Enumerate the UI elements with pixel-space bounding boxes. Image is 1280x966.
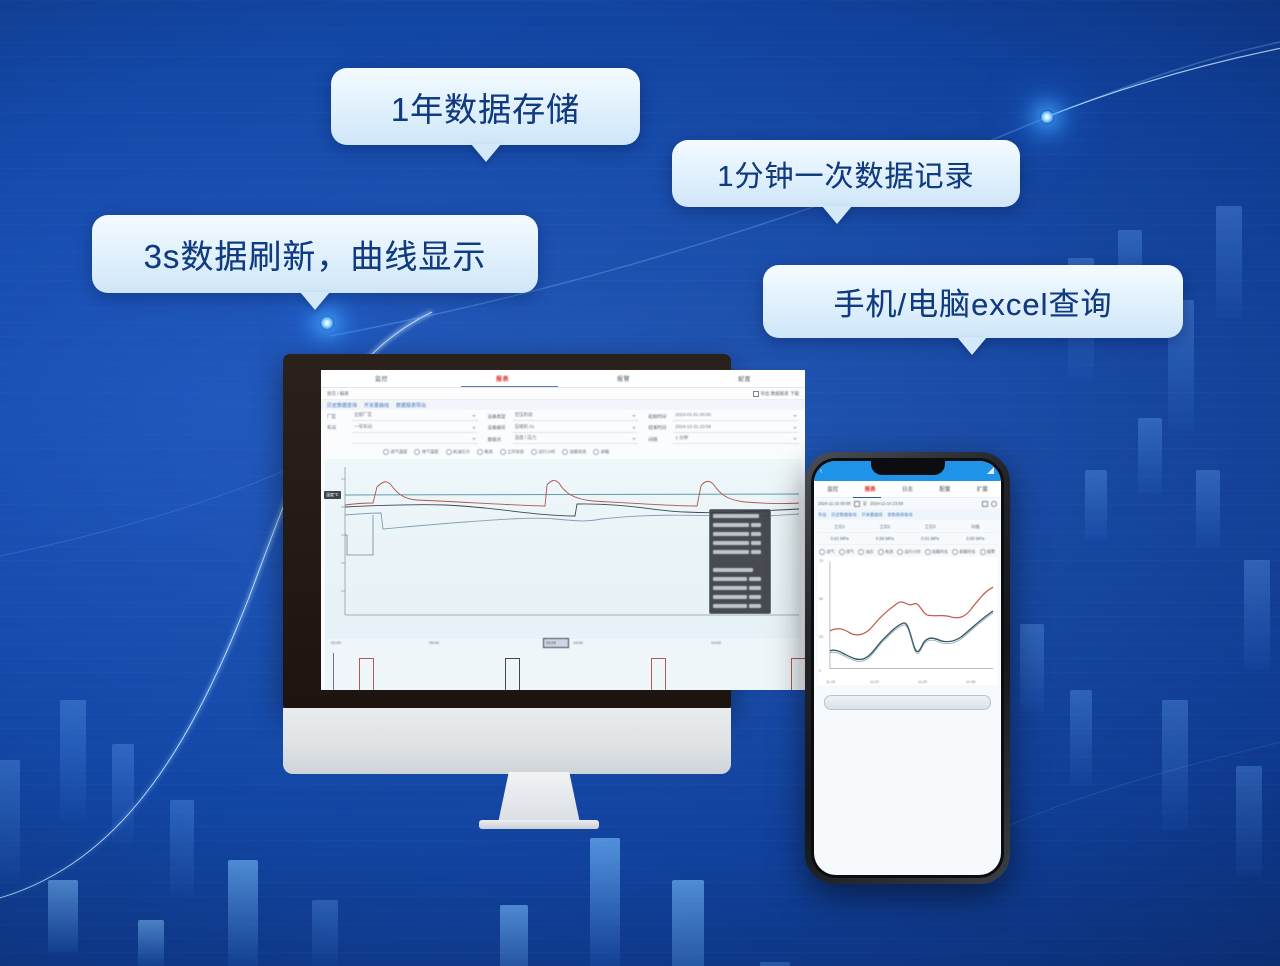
legend-dot-icon (858, 549, 864, 555)
legend-dot-icon (925, 549, 931, 555)
digital-pulse (651, 658, 666, 691)
phone-date-end[interactable]: 2024-12-14 23:59 (870, 501, 903, 506)
chart-tooltip: 2024-06-12 10:24 进气温度 38.6 排气温度 82.1 机油压… (709, 509, 771, 614)
legend-label: 进气 (827, 549, 835, 555)
form-select[interactable] (352, 435, 478, 444)
tooltip-title-2 (713, 567, 767, 574)
phone-data-table: 工位1 工位2 工位3 均值 0.62 MPa 0.58 MPa 0.61 MP… (814, 520, 1001, 546)
monitor-breadcrumb-2[interactable]: 数据报表导出 (396, 402, 426, 409)
legend-item: 卸载 (593, 449, 609, 455)
legend-dot-icon (477, 449, 483, 455)
table-row: 0.62 MPa 0.58 MPa 0.61 MPa 0.60 MPa (817, 533, 998, 545)
form-label: 设备类型 (488, 414, 510, 420)
callout-bubble-record[interactable]: 1分钟一次数据记录 (672, 140, 1020, 207)
callout-label-query: 手机/电脑excel查询 (834, 279, 1113, 324)
table-cell: 0.60 MPa (953, 536, 998, 541)
tooltip-row (713, 531, 767, 538)
calendar-icon[interactable] (854, 501, 860, 507)
phone-inner-bezel: ‹ VENTCO 监控 报表 日志 配置 扩展 2024-11-15 00:00… (811, 458, 1004, 878)
form-select[interactable]: 全部厂区 (352, 412, 478, 421)
search-icon[interactable] (991, 501, 997, 507)
tooltip-row (713, 522, 767, 529)
legend-item: 排气 (839, 549, 855, 555)
form-label: 设备编号 (488, 425, 510, 431)
table-cell: 工位3 (908, 524, 953, 530)
monitor-form-row: 数据点 温度 / 压力 间隔 1 分钟 (327, 435, 799, 444)
tooltip-row (713, 549, 767, 556)
monitor-form-row: 车间 一号车间 设备编号 压缩机 01 结束时间 2024-12-31 23:5… (327, 424, 799, 433)
legend-dot-icon (980, 549, 986, 555)
legend-item: 运行小时 (531, 449, 555, 455)
legend-label: 电流 (484, 449, 492, 455)
monitor-chin (283, 708, 731, 774)
digital-x-tick-0: 02:00 (331, 640, 341, 645)
legend-item: 加载状态 (562, 449, 586, 455)
phone-breadcrumb-0[interactable]: 导出 (818, 512, 826, 518)
table-cell: 0.62 MPa (817, 536, 862, 541)
monitor-tab-0[interactable]: 监控 (375, 374, 388, 383)
monitor-tab-1[interactable]: 报表 (496, 374, 509, 383)
tooltip-row-2 (713, 585, 767, 592)
export-icon[interactable] (753, 391, 759, 397)
legend-item: 机油压力 (446, 449, 470, 455)
tooltip-row-2 (713, 576, 767, 583)
legend-label: 加载时长 (932, 549, 948, 555)
legend-label: 卸载时长 (960, 549, 976, 555)
legend-label: 电流 (885, 549, 893, 555)
monitor-digital-channel-chart[interactable]: 02:00 06:00 10:00 14:00 10:24 (325, 639, 801, 691)
monitor-subbar-right[interactable]: 导出 数据报表 下载 (761, 391, 800, 397)
chevron-left-icon[interactable]: ‹ (820, 468, 822, 475)
legend-item: 进气温度 (383, 449, 407, 455)
digital-x-tick-1: 06:00 (429, 640, 439, 645)
table-cell: 0.58 MPa (862, 536, 907, 541)
form-select[interactable]: 一号车间 (352, 424, 478, 433)
desktop-monitor: 监控 报表 报警 配置 首页 / 报表 导出 数据报表 下载 历史数据查 (283, 354, 731, 714)
monitor-breadcrumb[interactable]: 历史数据查询 开关量曲线 数据报表导出 (321, 400, 805, 410)
form-label: 厂区 (327, 414, 349, 420)
phone-tab-3[interactable]: 配置 (939, 485, 950, 493)
monitor-subbar-left: 首页 / 报表 (327, 391, 349, 397)
calendar-icon-2[interactable] (982, 501, 988, 507)
legend-dot-icon (500, 449, 506, 455)
phone-line-chart[interactable]: 75 50 25 0 11-15 11-22 11-29 12-06 (818, 557, 997, 685)
callout-bubble-refresh[interactable]: 3s数据刷新，曲线显示 (92, 215, 538, 293)
monitor-tab-active-underline (461, 386, 558, 388)
legend-dot-icon (562, 449, 568, 455)
phone-chart-svg (818, 557, 997, 685)
table-cell: 工位2 (862, 524, 907, 530)
monitor-stand-foot (479, 820, 599, 829)
phone-breadcrumb-2[interactable]: 开关量曲线 (862, 512, 883, 518)
tooltip-row (713, 540, 767, 547)
callout-bubble-query[interactable]: 手机/电脑excel查询 (763, 265, 1183, 338)
monitor-filter-form[interactable]: 厂区 全部厂区 设备类型 空压机组 起始时间 2024-01-01 00:00 … (321, 410, 805, 444)
legend-item: 运行小时 (897, 549, 921, 555)
legend-label: 运行小时 (538, 449, 555, 455)
legend-dot-icon (593, 449, 599, 455)
phone-tab-2[interactable]: 日志 (902, 485, 913, 493)
callout-tail-record (822, 206, 852, 224)
monitor-breadcrumb-0[interactable]: 历史数据查询 (327, 402, 357, 409)
tooltip-title (713, 513, 767, 520)
digital-pulse (791, 658, 805, 691)
callout-tail-storage (471, 144, 501, 162)
callout-tail-query (957, 337, 987, 355)
glow-node-left (320, 316, 334, 330)
monitor-screen[interactable]: 监控 报表 报警 配置 首页 / 报表 导出 数据报表 下载 历史数据查 (321, 370, 805, 690)
monitor-form-row: 厂区 全部厂区 设备类型 空压机组 起始时间 2024-01-01 00:00 (327, 412, 799, 421)
monitor-line-chart[interactable]: 温度℃ (325, 459, 801, 639)
form-select[interactable]: 压缩机 01 (513, 424, 639, 433)
smartphone: ‹ VENTCO 监控 报表 日志 配置 扩展 2024-11-15 00:00… (805, 452, 1010, 884)
legend-label: 运行小时 (905, 549, 921, 555)
digital-x-tick-3: 14:00 (711, 640, 721, 645)
monitor-tab-2[interactable]: 报警 (617, 374, 630, 383)
callout-label-record: 1分钟一次数据记录 (717, 153, 974, 195)
form-select[interactable]: 2024-12-31 23:59 (673, 424, 799, 433)
table-row: 工位1 工位2 工位3 均值 (817, 521, 998, 533)
form-label: 数据点 (488, 437, 510, 443)
legend-dot-icon (839, 549, 845, 555)
legend-item: 工作状态 (500, 449, 524, 455)
legend-dot-icon (897, 549, 903, 555)
legend-label: 排气温度 (422, 449, 439, 455)
form-label: 车间 (327, 425, 349, 431)
form-label: 结束时间 (648, 425, 670, 431)
digital-cursor-marker[interactable]: 10:24 (543, 638, 569, 648)
phone-series-legend[interactable]: 进气 排气 油压 电流 运行小时 加载时长 卸载时长 报警 (814, 546, 1001, 556)
wifi-icon (987, 467, 994, 474)
legend-item: 进气 (819, 549, 835, 555)
phone-tab-1[interactable]: 报表 (865, 485, 876, 493)
legend-label: 油压 (866, 549, 874, 555)
form-select[interactable]: 2024-01-01 00:00 (673, 412, 799, 421)
callout-label-storage: 1年数据存储 (391, 83, 580, 131)
legend-label: 机油压力 (453, 449, 470, 455)
legend-item: 排气温度 (414, 449, 438, 455)
phone-tab-4[interactable]: 扩展 (977, 485, 988, 493)
legend-label: 进气温度 (391, 449, 408, 455)
legend-label: 报警 (987, 549, 995, 555)
legend-item: 加载时长 (925, 549, 949, 555)
legend-item: 电流 (878, 549, 894, 555)
glow-node-right (1040, 110, 1054, 124)
monitor-app-window: 监控 报表 报警 配置 首页 / 报表 导出 数据报表 下载 历史数据查 (321, 370, 805, 690)
monitor-series-legend[interactable]: 进气温度 排气温度 机油压力 电流 工作状态 运行小时 加载状态 卸载 (321, 447, 805, 458)
table-cell: 工位1 (817, 524, 862, 530)
legend-label: 卸载 (601, 449, 609, 455)
legend-item: 卸载时长 (952, 549, 976, 555)
phone-date-start[interactable]: 2024-11-15 00:00 (818, 501, 851, 506)
phone-breadcrumb-3[interactable]: 参数报表查询 (887, 512, 912, 518)
callout-tail-refresh (300, 292, 330, 310)
legend-label: 排气 (846, 549, 854, 555)
legend-item: 油压 (858, 549, 874, 555)
phone-horizontal-scrollbar[interactable] (824, 695, 991, 710)
monitor-tab-3[interactable]: 配置 (738, 374, 751, 383)
legend-dot-icon (878, 549, 884, 555)
legend-dot-icon (531, 449, 537, 455)
table-cell: 0.61 MPa (908, 536, 953, 541)
monitor-nav-tabs[interactable]: 监控 报表 报警 配置 (321, 370, 805, 388)
legend-dot-icon (446, 449, 452, 455)
callout-bubble-storage[interactable]: 1年数据存储 (331, 68, 640, 145)
legend-dot-icon (819, 549, 825, 555)
phone-notch (871, 461, 945, 475)
promo-canvas: 1年数据存储 1分钟一次数据记录 3s数据刷新，曲线显示 手机/电脑excel查… (0, 0, 1280, 966)
digital-pulse (505, 658, 520, 691)
tooltip-row-2 (713, 603, 767, 610)
form-label: 起始时间 (648, 414, 670, 420)
phone-breadcrumb-1[interactable]: 历史数据查询 (831, 512, 856, 518)
legend-dot-icon (952, 549, 958, 555)
digital-baseline-tick (333, 653, 334, 691)
phone-date-range-bar[interactable]: 2024-11-15 00:00 至 2024-12-14 23:59 (814, 498, 1001, 510)
phone-tab-bar[interactable]: 监控 报表 日志 配置 扩展 (814, 481, 1001, 498)
monitor-breadcrumb-1[interactable]: 开关量曲线 (364, 402, 389, 409)
form-select[interactable]: 温度 / 压力 (513, 435, 639, 444)
phone-breadcrumb[interactable]: 导出 历史数据查询 开关量曲线 参数报表查询 (814, 510, 1001, 520)
digital-x-tick-2: 10:00 (573, 640, 583, 645)
legend-dot-icon (383, 449, 389, 455)
legend-item: 电流 (477, 449, 493, 455)
tooltip-row-2 (713, 594, 767, 601)
monitor-subbar: 首页 / 报表 导出 数据报表 下载 (321, 388, 805, 400)
digital-pulse (359, 658, 374, 691)
legend-dot-icon (414, 449, 420, 455)
phone-date-to: 至 (863, 501, 867, 507)
phone-screen[interactable]: ‹ VENTCO 监控 报表 日志 配置 扩展 2024-11-15 00:00… (814, 461, 1001, 875)
legend-item: 报警 (980, 549, 996, 555)
legend-label: 工作状态 (507, 449, 524, 455)
form-select[interactable]: 空压机组 (513, 412, 639, 421)
form-select[interactable]: 1 分钟 (673, 435, 799, 444)
form-label: 间隔 (648, 437, 670, 443)
table-cell: 均值 (953, 524, 998, 530)
phone-tab-0[interactable]: 监控 (827, 485, 838, 493)
callout-label-refresh: 3s数据刷新，曲线显示 (144, 230, 487, 278)
legend-label: 加载状态 (570, 449, 587, 455)
